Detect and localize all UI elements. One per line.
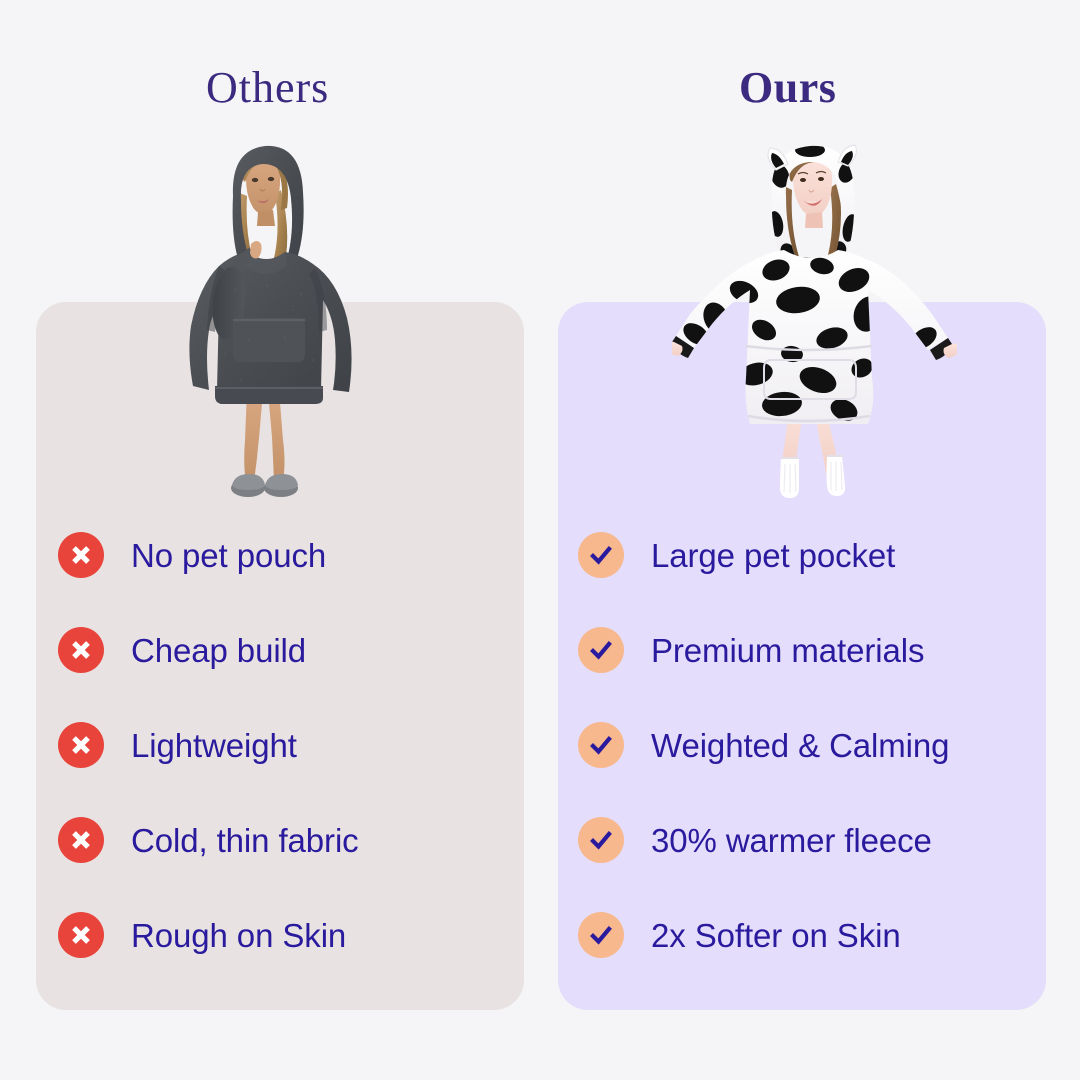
x-circle-icon: [58, 627, 104, 673]
x-circle-icon: [58, 817, 104, 863]
feature-label: Cheap build: [131, 634, 306, 667]
product-image-ours: [672, 142, 957, 517]
x-circle-icon: [58, 532, 104, 578]
check-circle-icon: [578, 912, 624, 958]
check-circle-icon: [578, 722, 624, 768]
column-title-ours: Ours: [739, 66, 836, 110]
feature-row: Cheap build: [58, 619, 359, 681]
feature-row: Weighted & Calming: [578, 714, 949, 776]
comparison-infographic: Others Ours: [0, 0, 1080, 1080]
feature-label: Large pet pocket: [651, 539, 895, 572]
feature-row: 30% warmer fleece: [578, 809, 949, 871]
feature-list-ours: Large pet pocket Premium materials Weigh…: [578, 524, 949, 966]
feature-label: Premium materials: [651, 634, 924, 667]
check-circle-icon: [578, 532, 624, 578]
x-circle-icon: [58, 912, 104, 958]
feature-label: Lightweight: [131, 729, 297, 762]
feature-list-others: No pet pouch Cheap build Lightweight: [58, 524, 359, 966]
feature-row: 2x Softer on Skin: [578, 904, 949, 966]
feature-row: No pet pouch: [58, 524, 359, 586]
feature-row: Rough on Skin: [58, 904, 359, 966]
feature-label: Rough on Skin: [131, 919, 346, 952]
feature-row: Cold, thin fabric: [58, 809, 359, 871]
feature-row: Lightweight: [58, 714, 359, 776]
x-circle-icon: [58, 722, 104, 768]
feature-row: Premium materials: [578, 619, 949, 681]
feature-label: 30% warmer fleece: [651, 824, 932, 857]
feature-label: Cold, thin fabric: [131, 824, 359, 857]
feature-label: Weighted & Calming: [651, 729, 949, 762]
feature-label: 2x Softer on Skin: [651, 919, 901, 952]
feature-row: Large pet pocket: [578, 524, 949, 586]
product-image-others: [175, 140, 365, 515]
check-circle-icon: [578, 627, 624, 673]
feature-label: No pet pouch: [131, 539, 326, 572]
column-title-others: Others: [206, 66, 329, 110]
check-circle-icon: [578, 817, 624, 863]
